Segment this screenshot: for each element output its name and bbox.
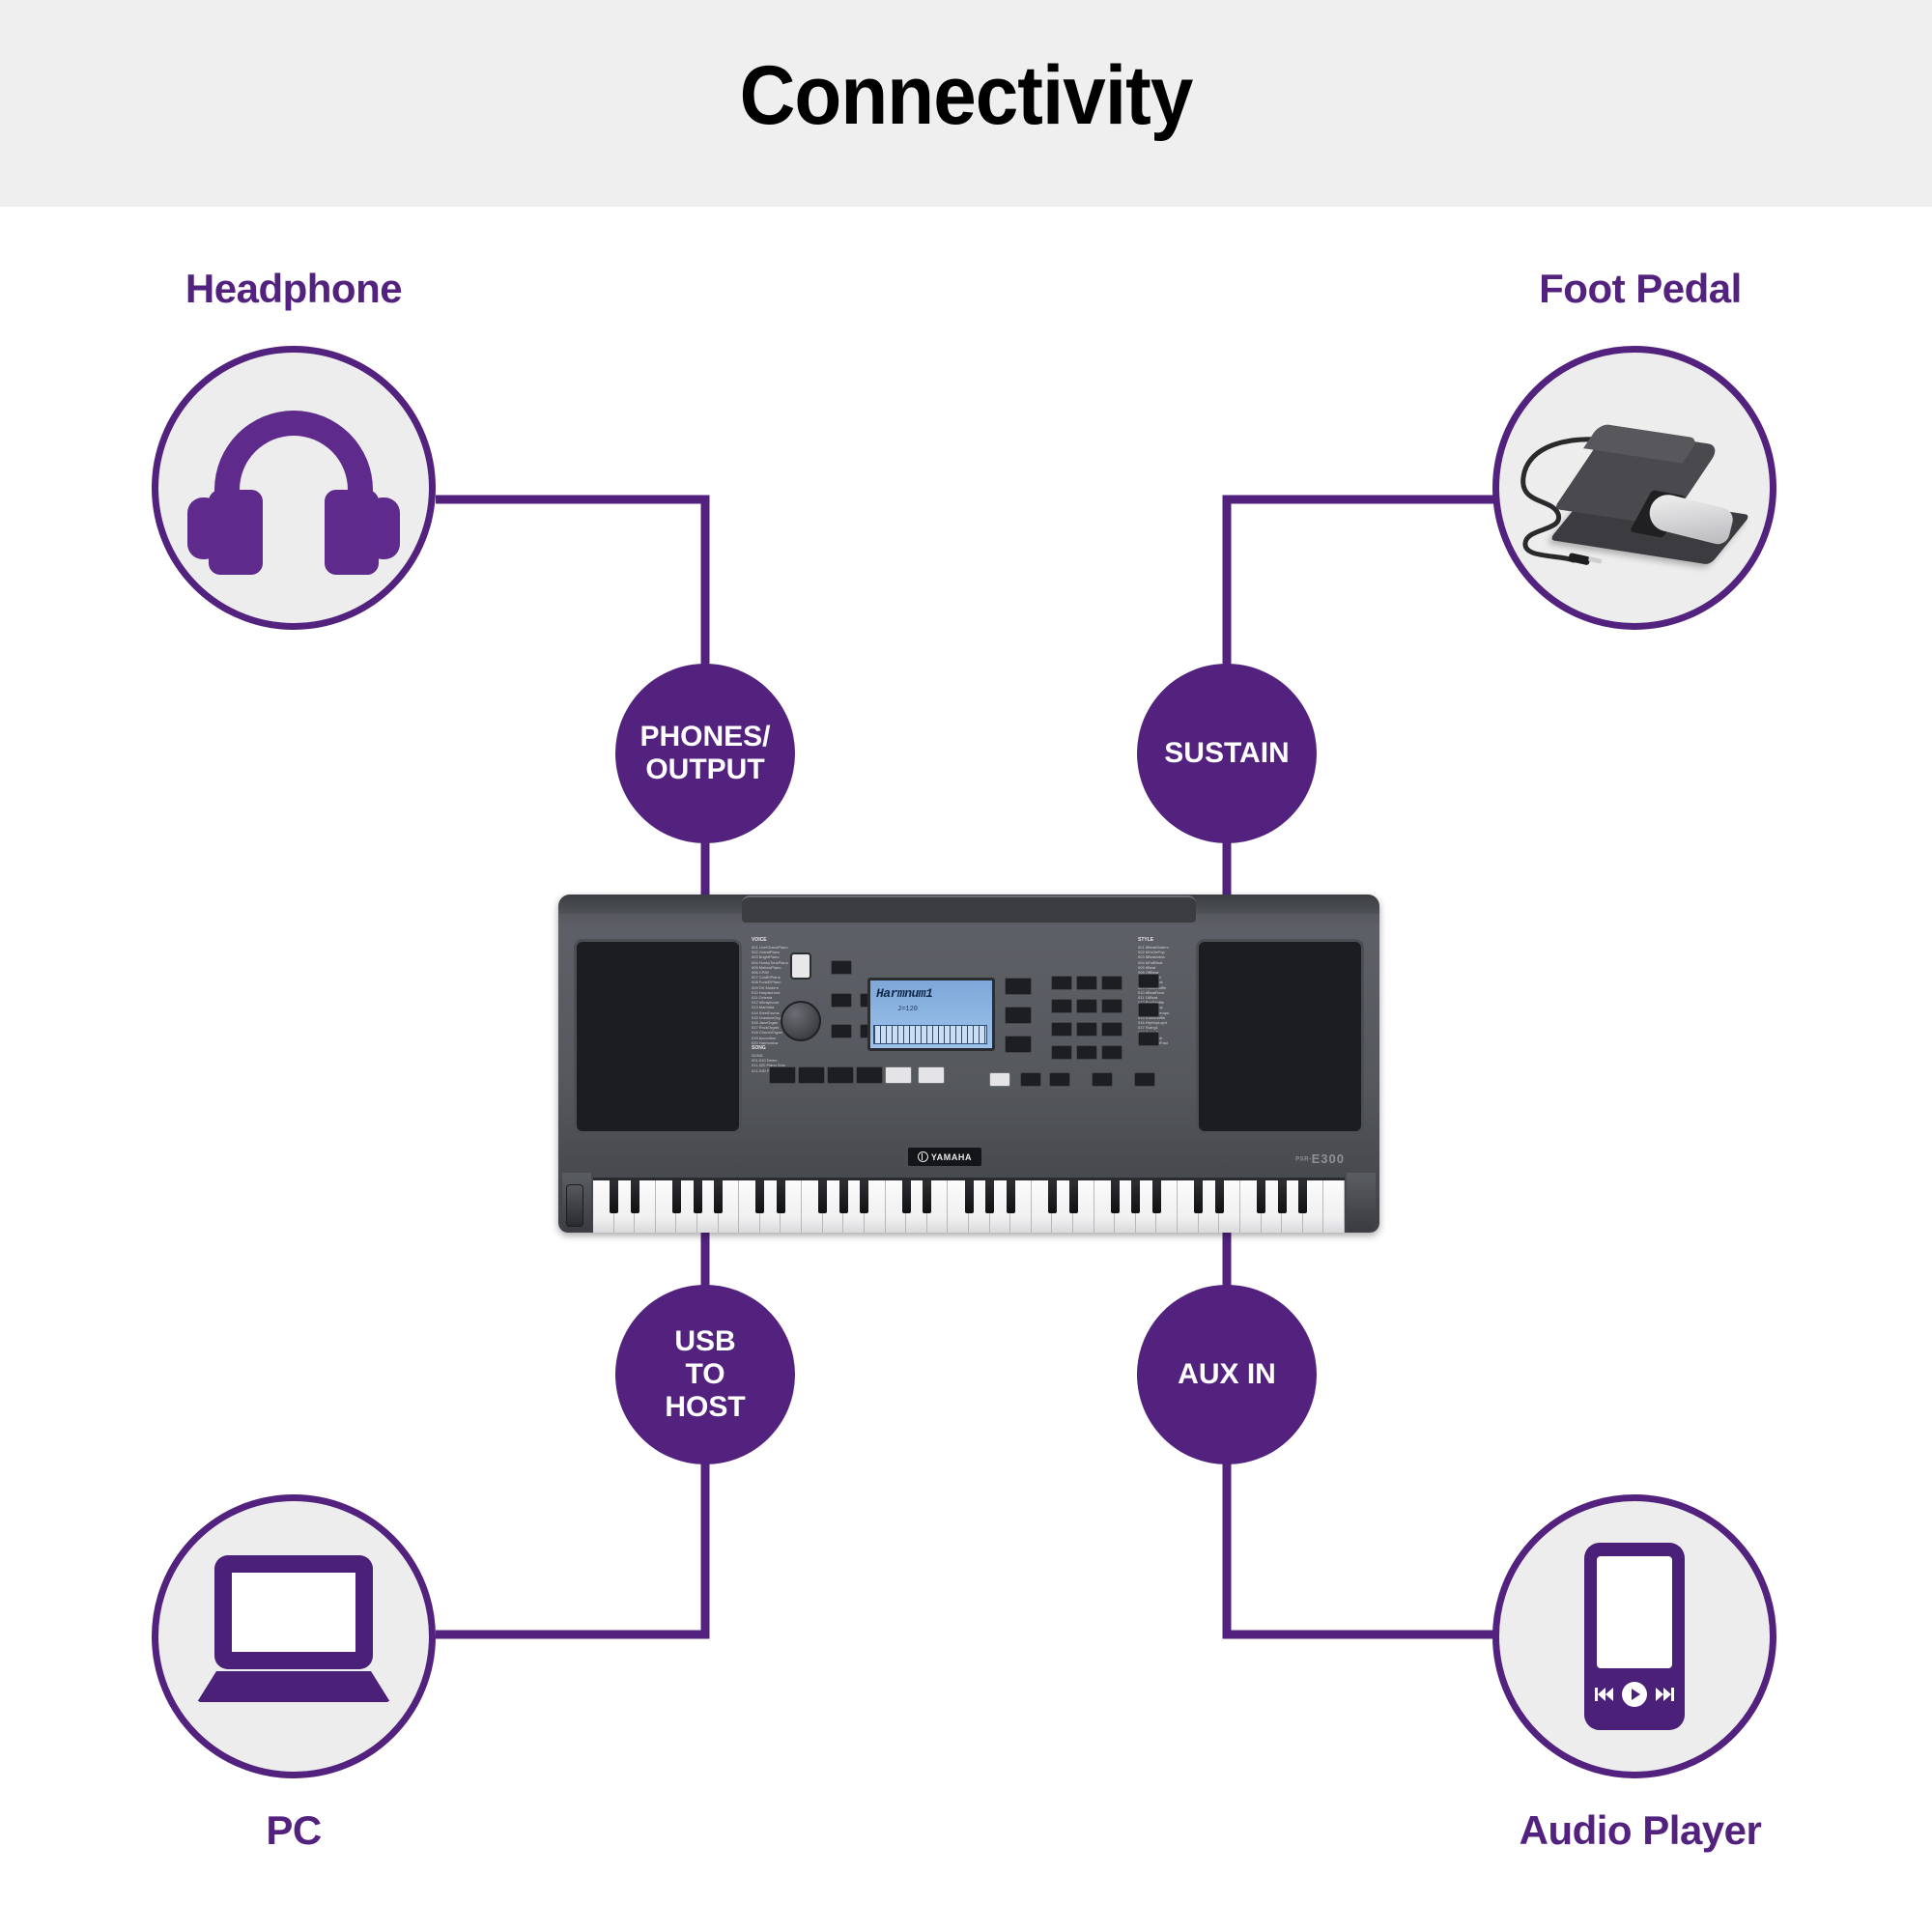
previous-icon	[1595, 1688, 1614, 1701]
numpad-5[interactable]	[1076, 999, 1097, 1013]
numpad-plus[interactable]	[1076, 1045, 1097, 1060]
style-select-button[interactable]	[1005, 1036, 1032, 1053]
split-button[interactable]	[1138, 1032, 1159, 1046]
model-name: PSR-E300	[1295, 1151, 1345, 1166]
music-rest-slot	[742, 895, 1196, 923]
device-headphone[interactable]	[152, 346, 436, 630]
device-audio-player[interactable]	[1492, 1494, 1776, 1778]
numpad-8[interactable]	[1076, 1022, 1097, 1037]
port-label-aux-in: AUX IN	[1172, 1358, 1282, 1391]
pitch-bend-wheel[interactable]	[566, 1184, 583, 1227]
wire-usb-pc	[436, 1461, 705, 1634]
black-key[interactable]	[694, 1180, 702, 1213]
black-key[interactable]	[1194, 1180, 1203, 1213]
black-key[interactable]	[965, 1180, 974, 1213]
style-button-4[interactable]	[856, 1066, 883, 1084]
black-key[interactable]	[818, 1180, 827, 1213]
black-key[interactable]	[923, 1180, 931, 1213]
music-database-button[interactable]	[1138, 974, 1159, 988]
laptop-base	[197, 1671, 390, 1702]
yamaha-logo: YAMAHA	[908, 1148, 981, 1166]
headphone-cup-right	[325, 490, 379, 575]
style-button-2[interactable]	[798, 1066, 825, 1084]
wire-pedal-sustain	[1227, 499, 1496, 667]
black-key[interactable]	[839, 1180, 848, 1213]
connectivity-diagram: Connectivity Headphone Foot Pedal	[0, 0, 1932, 1932]
model-number: E300	[1312, 1151, 1345, 1166]
lcd-voice-name: Harmnum1	[876, 986, 932, 1001]
voice-select-button[interactable]	[1005, 978, 1032, 995]
black-key[interactable]	[714, 1180, 723, 1213]
device-foot-pedal[interactable]	[1492, 346, 1776, 630]
audio-player-icon	[1584, 1543, 1685, 1730]
lcd-tempo: J=120	[897, 1006, 918, 1013]
lcd-display: Harmnum1 J=120	[867, 978, 995, 1051]
numpad-6[interactable]	[1101, 999, 1122, 1013]
device-pc[interactable]	[152, 1494, 436, 1778]
black-key[interactable]	[1048, 1180, 1057, 1213]
black-key[interactable]	[1069, 1180, 1078, 1213]
black-key[interactable]	[631, 1180, 639, 1213]
numpad-1[interactable]	[1051, 976, 1072, 990]
dsp-button[interactable]	[1020, 1072, 1041, 1087]
lcd-keyboard-graphic	[873, 1025, 987, 1044]
black-key[interactable]	[777, 1180, 785, 1213]
black-key[interactable]	[1152, 1180, 1161, 1213]
wire-aux-audioplayer	[1227, 1461, 1496, 1634]
control-panel: Harmnum1 J=120	[748, 935, 1190, 1138]
port-badge-sustain[interactable]: SUSTAIN	[1137, 664, 1317, 843]
wire-headphone-phones	[436, 499, 705, 667]
dual-button[interactable]	[1138, 1003, 1159, 1017]
numpad-7[interactable]	[1051, 1022, 1072, 1037]
pc-label: PC	[43, 1807, 545, 1854]
black-key[interactable]	[1215, 1180, 1224, 1213]
audio-player-screen	[1597, 1556, 1672, 1668]
port-label-sustain: SUSTAIN	[1158, 737, 1294, 770]
laptop-screen	[214, 1555, 373, 1669]
black-key[interactable]	[1111, 1180, 1120, 1213]
function-button[interactable]	[831, 1024, 852, 1038]
port-label-phones-output: PHONES/ OUTPUT	[634, 721, 776, 786]
laptop-icon	[197, 1555, 390, 1718]
model-prefix: PSR-	[1295, 1157, 1311, 1163]
numpad-9[interactable]	[1101, 1022, 1122, 1037]
audio-player-label: Audio Player	[1389, 1807, 1891, 1854]
keyboard-body: VOICE 001 Live!GrandPiano 002 GrandPiano…	[558, 895, 1379, 1233]
foot-pedal-label: Foot Pedal	[1389, 266, 1891, 312]
black-key[interactable]	[672, 1180, 681, 1213]
speaker-grille-left	[574, 939, 742, 1134]
harmony-button[interactable]	[989, 1072, 1010, 1087]
port-label-usb-to-host: USB TO HOST	[659, 1325, 751, 1424]
port-badge-phones-output[interactable]: PHONES/ OUTPUT	[615, 664, 795, 843]
port-badge-aux-in[interactable]: AUX IN	[1137, 1285, 1317, 1464]
foot-pedal-icon	[1504, 377, 1765, 599]
numpad-minus[interactable]	[1101, 1045, 1122, 1060]
song-select-button[interactable]	[1005, 1007, 1032, 1024]
headphone-icon	[187, 401, 400, 575]
style-button-3[interactable]	[827, 1066, 854, 1084]
numpad-3[interactable]	[1101, 976, 1122, 990]
brand-name: YAMAHA	[931, 1152, 972, 1162]
touch-button[interactable]	[1134, 1072, 1155, 1087]
play-icon	[1622, 1682, 1647, 1707]
black-key[interactable]	[860, 1180, 868, 1213]
metronome-button[interactable]	[831, 993, 852, 1008]
sync-start-button[interactable]	[918, 1066, 945, 1084]
port-badge-usb-to-host[interactable]: USB TO HOST	[615, 1285, 795, 1464]
black-key[interactable]	[755, 1180, 764, 1213]
black-key[interactable]	[1278, 1180, 1287, 1213]
headphone-cup-left	[209, 490, 263, 575]
white-key[interactable]	[1323, 1180, 1345, 1233]
black-key[interactable]	[1007, 1180, 1015, 1213]
power-led	[790, 952, 811, 980]
keybed[interactable]	[593, 1178, 1345, 1233]
black-key[interactable]	[902, 1180, 911, 1213]
demo-button[interactable]	[831, 960, 852, 975]
black-key[interactable]	[1131, 1180, 1140, 1213]
headphone-label: Headphone	[43, 266, 545, 312]
audio-player-controls	[1584, 1678, 1685, 1711]
numpad-0[interactable]	[1051, 1045, 1072, 1060]
tuning-fork-icon	[918, 1151, 928, 1162]
black-key[interactable]	[1257, 1180, 1265, 1213]
black-key[interactable]	[985, 1180, 994, 1213]
black-key[interactable]	[610, 1180, 618, 1213]
numpad-2[interactable]	[1076, 976, 1097, 990]
numpad-4[interactable]	[1051, 999, 1072, 1013]
arpeggio-button[interactable]	[1049, 1072, 1070, 1087]
start-stop-button[interactable]	[885, 1066, 912, 1084]
master-volume-knob[interactable]	[781, 1001, 821, 1041]
style-button-1[interactable]	[769, 1066, 796, 1084]
speaker-grille-right	[1196, 939, 1364, 1134]
keybed-side-right	[1347, 1173, 1376, 1231]
black-key[interactable]	[1298, 1180, 1307, 1213]
regist-memory-button[interactable]	[1092, 1072, 1113, 1087]
next-icon	[1655, 1688, 1674, 1701]
keyboard-instrument[interactable]: VOICE 001 Live!GrandPiano 002 GrandPiano…	[558, 895, 1379, 1233]
